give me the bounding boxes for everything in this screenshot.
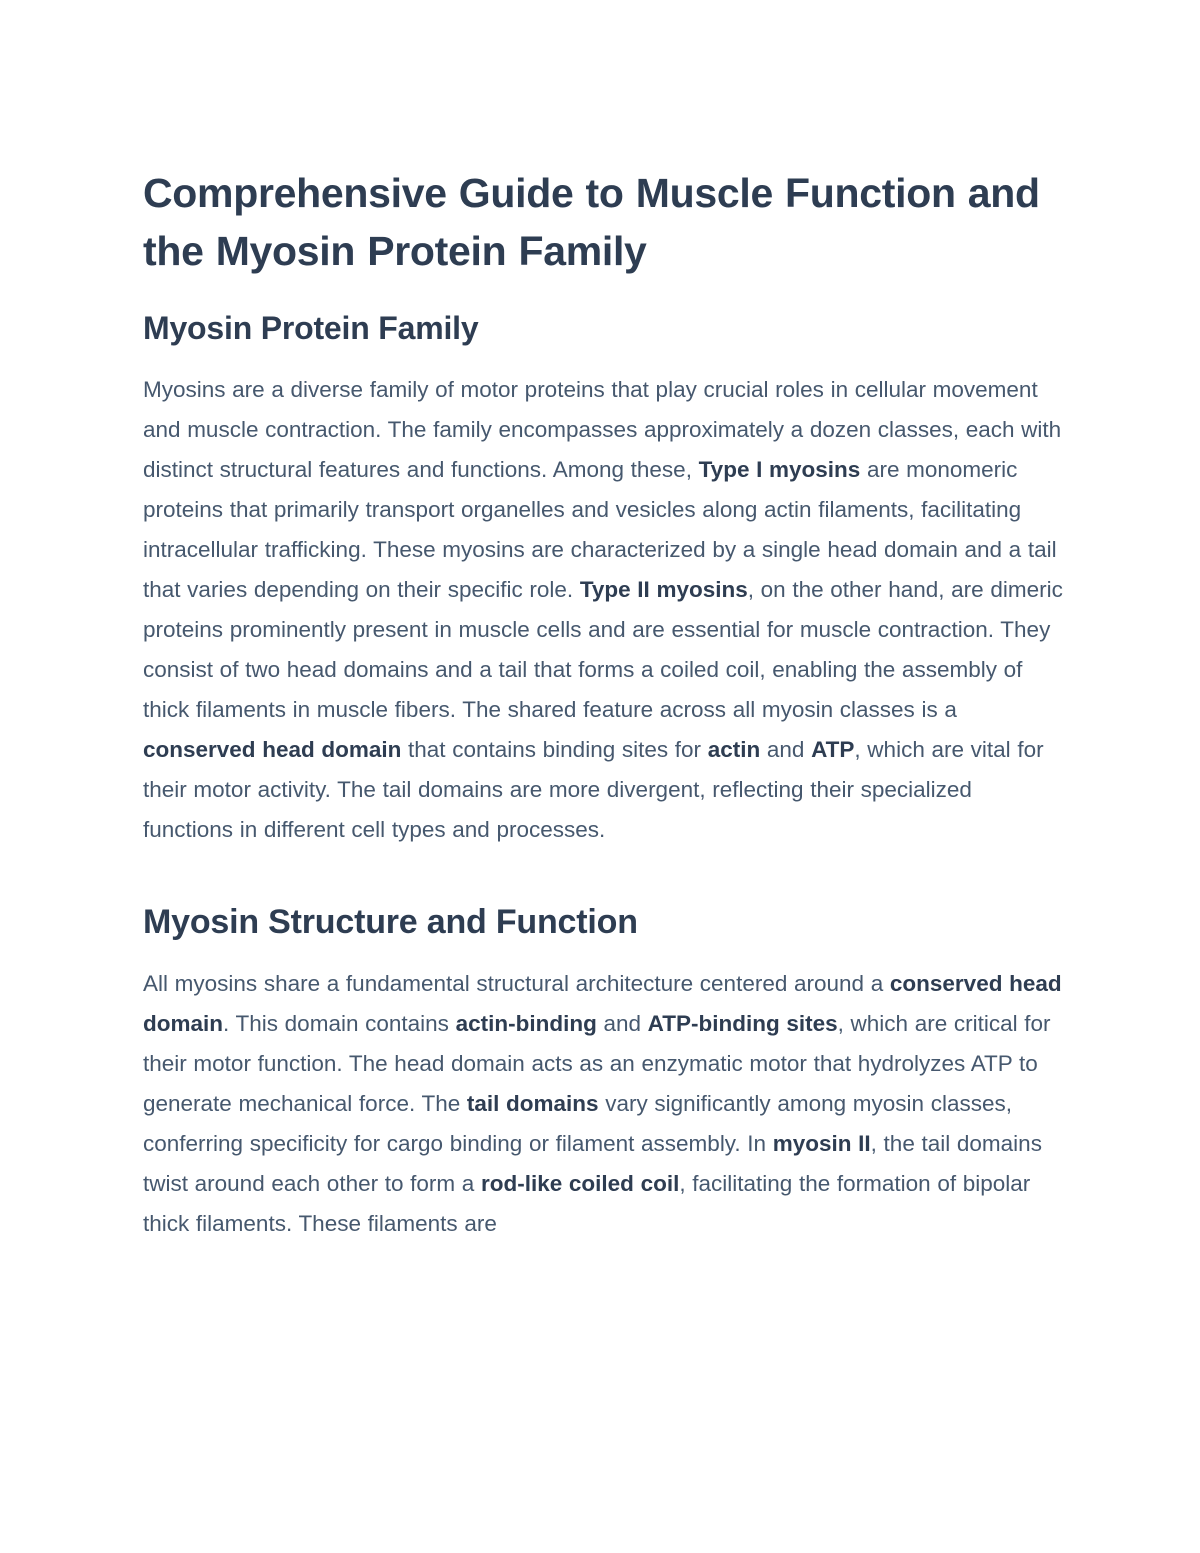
section-heading-myosin-protein-family: Myosin Protein Family: [143, 280, 1063, 348]
document-content: Comprehensive Guide to Muscle Function a…: [143, 0, 1063, 1244]
section-paragraph-myosin-protein-family: Myosins are a diverse family of motor pr…: [143, 348, 1063, 850]
section-heading-myosin-structure-and-function: Myosin Structure and Function: [143, 850, 1063, 942]
section-paragraph-myosin-structure-and-function: All myosins share a fundamental structur…: [143, 942, 1063, 1244]
page-title: Comprehensive Guide to Muscle Function a…: [143, 0, 1063, 280]
document-page: Comprehensive Guide to Muscle Function a…: [0, 0, 1200, 1553]
